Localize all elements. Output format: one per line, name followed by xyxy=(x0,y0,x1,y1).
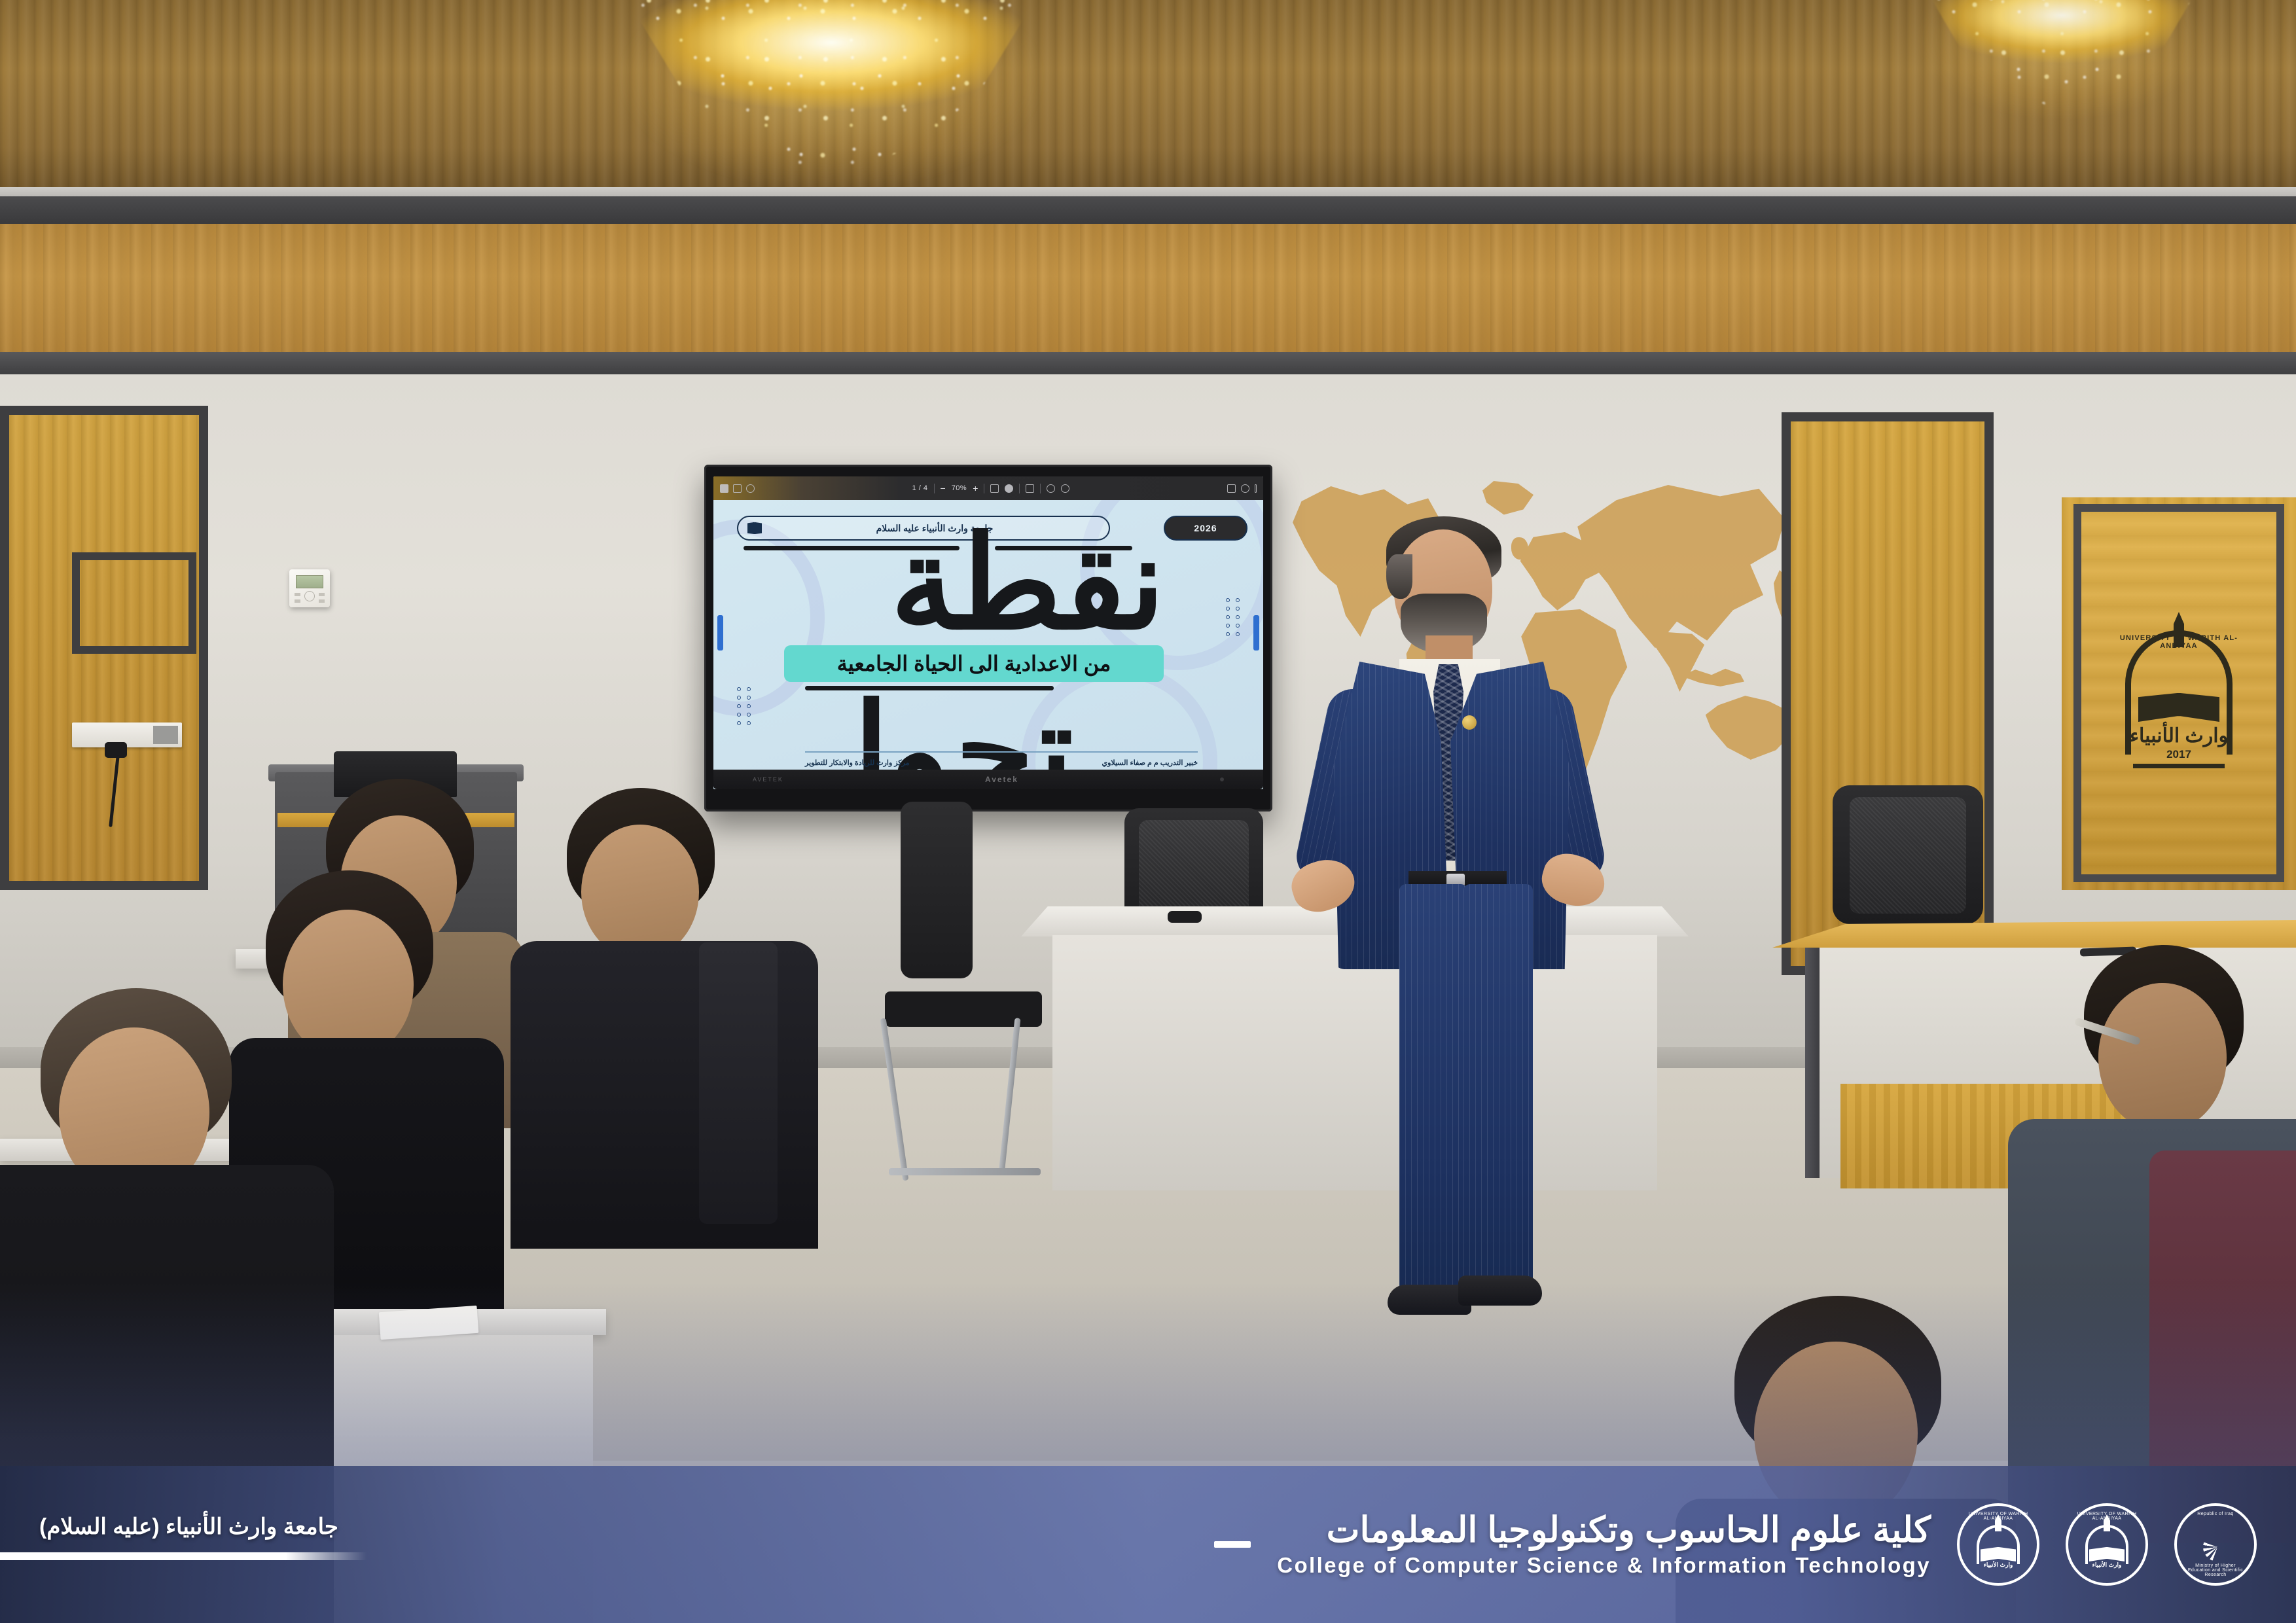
thermostat-lcd xyxy=(296,575,323,588)
office-chair-right[interactable] xyxy=(1833,785,1996,942)
university-wall-plaque: UNIVERSITY OF WARITH AL-ANBIYAA وارث الأ… xyxy=(2073,504,2284,882)
slide-canvas: جامعة وارث الأنبياء عليه السلام 2026 نقط… xyxy=(713,500,1263,770)
tv-brand-label: Avetek xyxy=(985,775,1018,784)
rotate-icon[interactable] xyxy=(1005,484,1013,493)
plaque-year: 2017 xyxy=(2125,748,2233,761)
presentation-remote[interactable] xyxy=(1168,911,1202,923)
audience-member-6 xyxy=(1656,1296,2022,1623)
scene-photo: UNIVERSITY OF WARITH AL-ANBIYAA وارث الأ… xyxy=(0,0,2296,1623)
toolbar-divider-3 xyxy=(1019,484,1020,493)
plaque-ring-text: UNIVERSITY OF WARITH AL-ANBIYAA xyxy=(2119,634,2239,650)
sidebar-icon[interactable] xyxy=(720,484,728,493)
presenter-speaker xyxy=(1278,507,1618,1371)
person-head xyxy=(2098,983,2227,1132)
speaker-trouser-left xyxy=(1399,884,1467,1290)
chair-mesh-panel xyxy=(1139,820,1249,921)
chair-leg-base xyxy=(889,1168,1041,1175)
presentation-display[interactable]: 1 / 4 − 70% + xyxy=(704,465,1272,811)
zoom-in-button[interactable]: + xyxy=(973,484,978,493)
slide-subtitle-text: من الاعدادية الى الحياة الجامعية xyxy=(837,651,1111,676)
slide-title-word-top: نقطة xyxy=(890,529,1165,639)
speaker-trouser-right xyxy=(1463,884,1533,1290)
side-desk-leg xyxy=(1805,948,1820,1178)
footer-left-rule xyxy=(0,1552,367,1560)
chandelier-sparkle-2 xyxy=(1924,0,2199,105)
chair-leg-front xyxy=(880,1018,909,1181)
fit-page-icon[interactable] xyxy=(990,484,999,493)
chair-leg-rear xyxy=(998,1018,1020,1175)
slide-subtitle-highlight: من الاعدادية الى الحياة الجامعية xyxy=(784,645,1164,682)
tv-bezel-bottom: AVETEK Avetek xyxy=(713,770,1263,789)
speaker-hair-temple xyxy=(1386,554,1412,599)
slide-dots-right xyxy=(1226,598,1240,636)
ceiling-dark-band xyxy=(0,196,2296,224)
power-cord xyxy=(109,755,119,827)
plaque-base-line xyxy=(2133,764,2225,768)
audience-member-4 xyxy=(511,779,785,1250)
undo-icon[interactable] xyxy=(1047,484,1055,493)
plaque-arabic-text: وارث الأنبياء xyxy=(2125,724,2233,747)
chair-mesh-panel xyxy=(1850,797,1966,914)
slide-footer-rule xyxy=(805,751,1198,753)
download-icon[interactable] xyxy=(1227,484,1236,493)
slide-year-badge: 2026 xyxy=(1164,516,1247,541)
chair-backrest xyxy=(901,802,973,978)
toolbar-divider-1 xyxy=(934,484,935,493)
chandelier-sparkle xyxy=(628,0,1034,170)
thermostat-button-right2[interactable] xyxy=(319,599,325,603)
speaker-shoe-right xyxy=(1458,1275,1542,1306)
thermostat-button-right[interactable] xyxy=(319,593,325,596)
slide-credit-center: مركز وارث للريادة والابتكار للتطوير xyxy=(805,758,910,767)
ac-thermostat[interactable] xyxy=(289,569,330,607)
person-head xyxy=(1754,1342,1918,1525)
speaker-lapel-pin xyxy=(1462,715,1477,730)
leather-bag xyxy=(2149,1150,2296,1543)
thermostat-button-left2[interactable] xyxy=(295,599,300,603)
highlight-icon[interactable] xyxy=(1026,484,1034,493)
pencil-icon[interactable] xyxy=(746,484,755,493)
thermostat-button-left[interactable] xyxy=(295,593,300,596)
toolbar-divider-2 xyxy=(984,484,984,493)
footer-accent-dash xyxy=(1214,1541,1251,1548)
power-outlet-plate[interactable] xyxy=(72,722,182,747)
redo-icon[interactable] xyxy=(1061,484,1069,493)
chandelier-secondary xyxy=(1924,0,2199,105)
thumbnail-icon[interactable] xyxy=(733,484,742,493)
audience-member-5 xyxy=(1988,935,2296,1623)
left-wood-pillar xyxy=(0,406,208,890)
tv-screen[interactable]: 1 / 4 − 70% + xyxy=(713,476,1263,789)
pillar-inset-frame xyxy=(72,552,196,654)
plaque-emblem: UNIVERSITY OF WARITH AL-ANBIYAA وارث الأ… xyxy=(2113,608,2244,778)
upper-wood-wall xyxy=(0,224,2296,355)
person-head xyxy=(581,825,699,959)
slide-accent-tab-right xyxy=(1253,615,1259,651)
toolbar-divider-4 xyxy=(1040,484,1041,493)
page-indicator: 1 / 4 xyxy=(912,484,928,492)
book-icon xyxy=(747,522,762,534)
more-icon[interactable] xyxy=(1255,484,1257,493)
slide-footer-credits: خبير التدريب م م صفاء السيلاوي مركز وارث… xyxy=(805,758,1198,767)
settings-icon[interactable] xyxy=(1241,484,1249,493)
zoom-out-button[interactable]: − xyxy=(941,484,946,493)
thermostat-knob[interactable] xyxy=(304,591,315,601)
audience-member-1 xyxy=(0,969,321,1623)
chandelier-main xyxy=(628,0,1034,170)
person-scarf xyxy=(699,942,778,1224)
visitor-chair-left[interactable] xyxy=(885,802,1081,1194)
slide-accent-tab-left xyxy=(717,615,723,651)
zoom-level: 70% xyxy=(952,484,967,492)
slide-credit-speaker: خبير التدريب م م صفاء السيلاوي xyxy=(1102,758,1198,767)
outlet-vent xyxy=(153,726,178,744)
tv-ir-sensor xyxy=(1220,777,1224,781)
person-torso xyxy=(1676,1499,2016,1623)
pdf-viewer-toolbar[interactable]: 1 / 4 − 70% + xyxy=(713,476,1263,500)
wall-dark-trim xyxy=(0,352,2296,374)
slide-dots-left xyxy=(737,687,751,725)
continent-australia xyxy=(1704,694,1794,762)
